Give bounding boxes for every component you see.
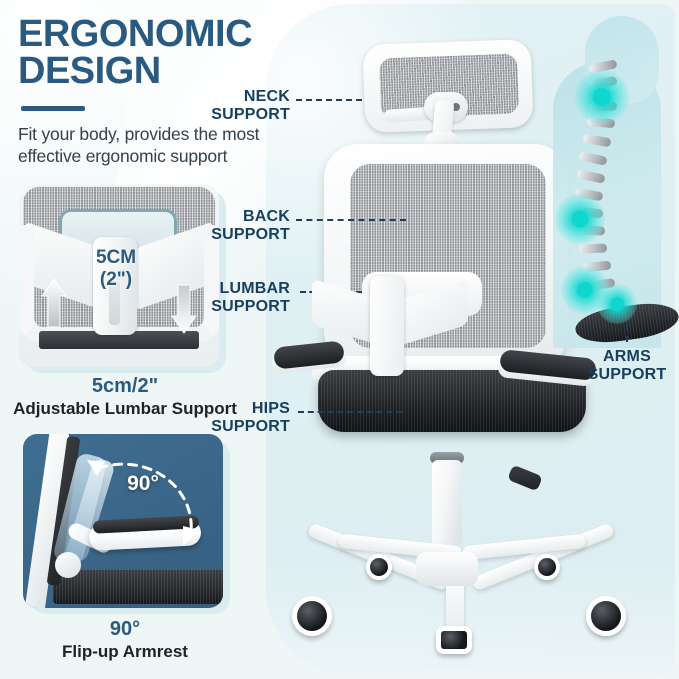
callout-neck-support: NECK SUPPORT <box>180 88 290 124</box>
armrest-card-pivot <box>55 552 81 578</box>
human-spine-silhouette <box>545 18 679 348</box>
armrest-card-angle-value: 90° <box>111 472 175 496</box>
hotspot-hips-icon <box>597 284 637 324</box>
callout-hips-support: HIPS SUPPORT <box>158 400 290 436</box>
caster-wheel-2 <box>586 596 626 636</box>
title-divider <box>21 106 85 111</box>
armrest-card-seat <box>53 570 223 604</box>
armrest-caption-value: 90° <box>0 617 250 641</box>
callout-back-line2: SUPPORT <box>160 226 290 244</box>
callout-arms-support: ARMS SUPPORT <box>580 348 674 384</box>
leader-line-arms <box>626 324 628 342</box>
leader-line-back <box>296 219 406 221</box>
lumbar-dimension-value: 5CM <box>96 247 136 268</box>
callout-lumbar-line1: LUMBAR <box>219 280 290 297</box>
base-hub <box>416 552 478 586</box>
armrest-card-caption: 90° Flip-up Armrest <box>0 617 250 662</box>
vertebra-11 <box>579 244 607 254</box>
callout-hips-line1: HIPS <box>252 400 290 417</box>
callout-back-line1: BACK <box>243 208 290 225</box>
callout-arms-line1: ARMS <box>603 348 651 365</box>
height-adjust-lever <box>507 465 543 492</box>
caster-wheel-5 <box>436 626 472 654</box>
rotation-arc-icon <box>79 446 209 556</box>
leader-line-neck <box>296 99 362 101</box>
infographic-canvas: ERGONOMIC DESIGN Fit your body, provides… <box>0 0 679 679</box>
lumbar-caption-value: 5cm/2" <box>0 374 250 398</box>
flip-up-armrest-card[interactable]: 90° <box>23 434 223 608</box>
title-line-2: DESIGN <box>18 53 280 90</box>
callout-lumbar-line2: SUPPORT <box>152 298 290 316</box>
title-line-1: ERGONOMIC <box>18 13 252 55</box>
callout-hips-line2: SUPPORT <box>158 418 290 436</box>
leader-line-hips <box>298 411 402 413</box>
arrow-up-icon <box>41 277 67 329</box>
five-star-base <box>286 514 636 674</box>
caster-wheel-4 <box>534 554 560 580</box>
lumbar-card-dimension: 5CM (2") <box>79 247 153 292</box>
caster-wheel-1 <box>292 596 332 636</box>
hotspot-neck-icon <box>575 70 629 124</box>
callout-neck-line2: SUPPORT <box>180 106 290 124</box>
callout-neck-line1: NECK <box>244 88 290 105</box>
hotspot-mid-back-icon <box>555 194 605 244</box>
page-title: ERGONOMIC DESIGN <box>18 16 280 90</box>
callout-arms-line2: SUPPORT <box>580 366 674 384</box>
lumbar-adjuster <box>370 276 404 376</box>
page-subtitle: Fit your body, provides the most effecti… <box>18 124 268 167</box>
callout-lumbar-support: LUMBAR SUPPORT <box>152 280 290 316</box>
lumbar-dimension-unit: (2") <box>79 269 153 291</box>
callout-back-support: BACK SUPPORT <box>160 208 290 244</box>
armrest-caption-label: Flip-up Armrest <box>0 641 250 662</box>
caster-wheel-3 <box>366 554 392 580</box>
